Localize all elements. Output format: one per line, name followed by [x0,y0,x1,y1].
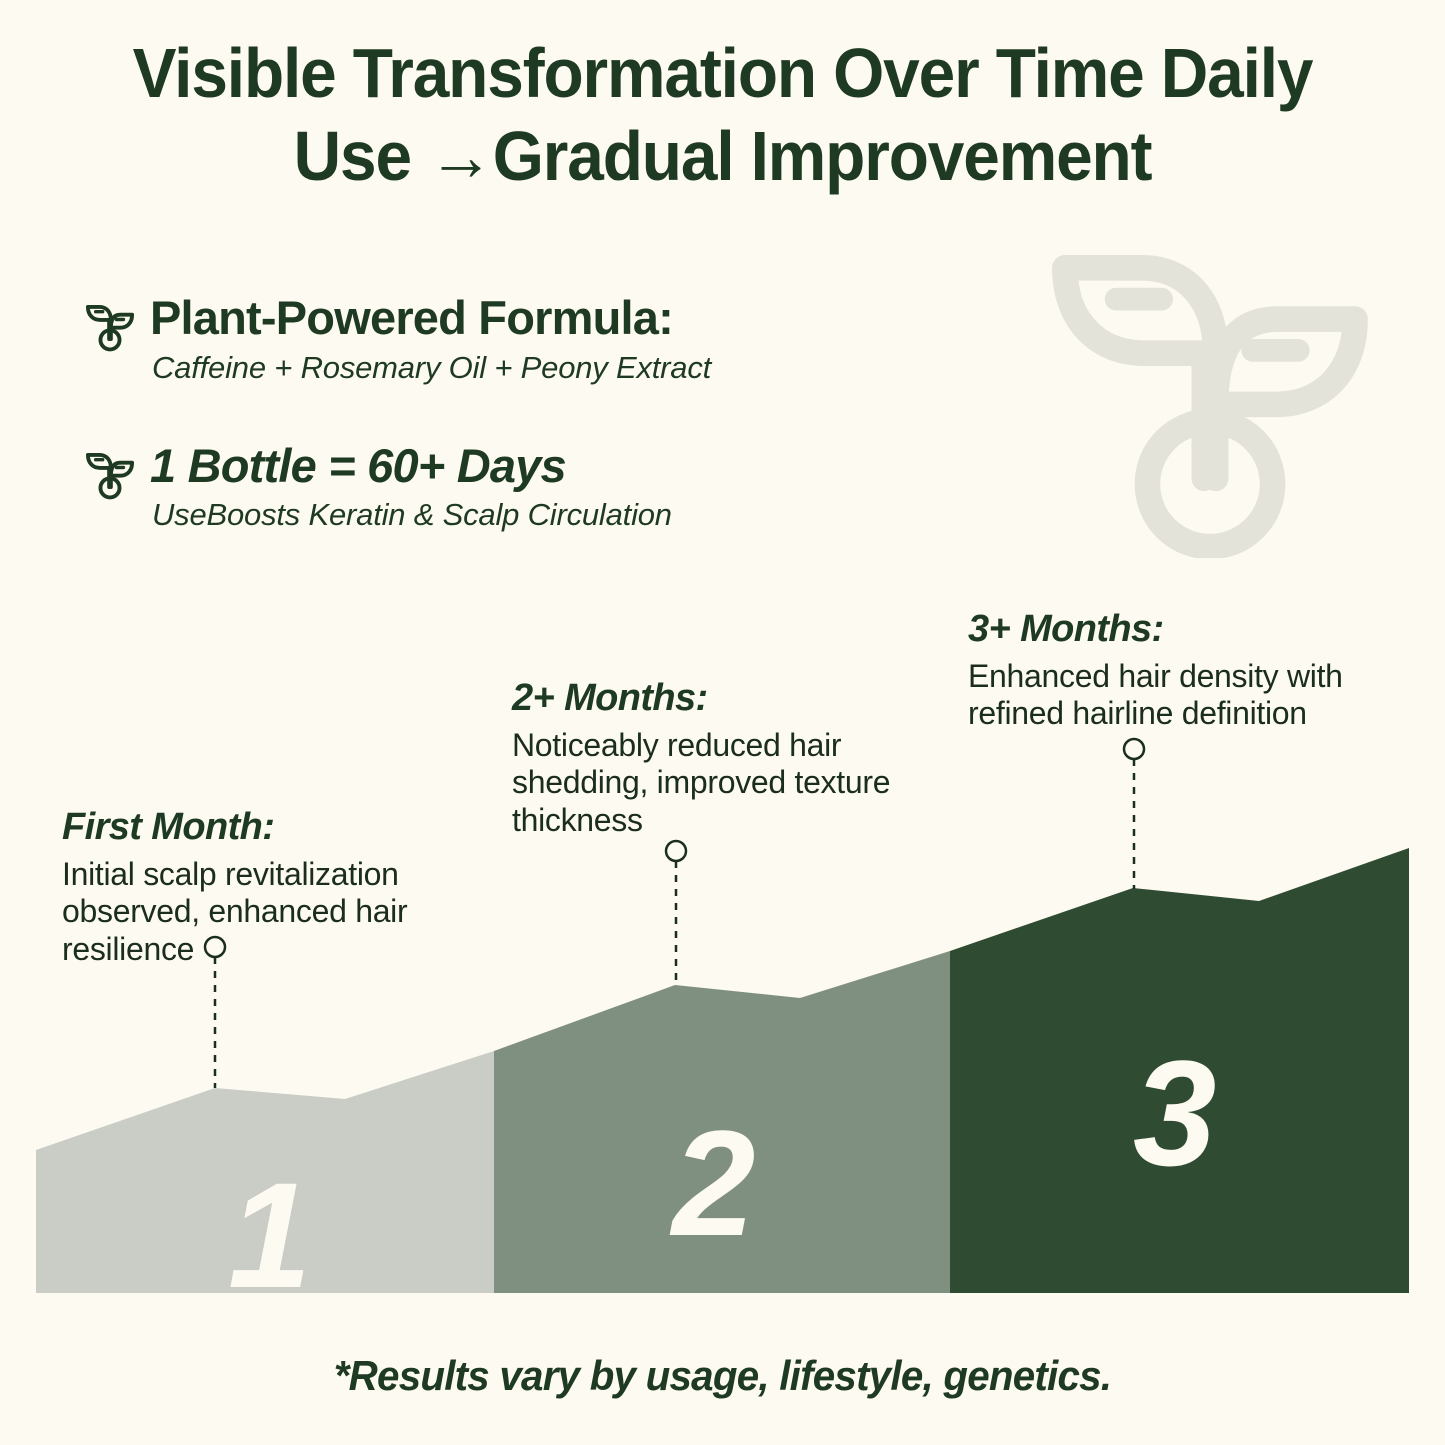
feature-heading: Plant-Powered Formula: [150,292,978,345]
feature-item-bottle-days: 1 Bottle = 60+ Days UseBoosts Keratin & … [78,440,978,534]
callout-title: 3+ Months: [968,607,1388,652]
callout-two-months: 2+ Months: Noticeably reduced hair shedd… [512,676,932,839]
callout-body: Initial scalp revitalization observed, e… [62,856,462,968]
callout-three-months: 3+ Months: Enhanced hair density with re… [968,607,1388,733]
step-numeral-1: 1 [228,1160,307,1310]
sprout-icon [84,446,136,502]
callout-body: Enhanced hair density with refined hairl… [968,658,1388,733]
callout-title: 2+ Months: [512,676,932,721]
feature-item-plant-powered: Plant-Powered Formula: Caffeine + Rosema… [78,292,978,386]
callout-leader-3 [1124,739,1144,889]
feature-list: Plant-Powered Formula: Caffeine + Rosema… [78,292,978,588]
callout-body: Noticeably reduced hair shedding, improv… [512,727,932,839]
callout-first-month: First Month: Initial scalp revitalizatio… [62,805,462,968]
callout-leader-2 [666,841,686,986]
title-line-1: Visible Transformation Over Time Daily [43,32,1401,115]
feature-subtext: UseBoosts Keratin & Scalp Circulation [152,496,978,533]
title-line-2: Use →Gradual Improvement [43,115,1401,198]
step-numeral-2: 2 [672,1108,751,1258]
page-title: Visible Transformation Over Time Daily U… [43,32,1401,199]
disclaimer-text: *Results vary by usage, lifestyle, genet… [29,1352,1416,1400]
feature-subtext: Caffeine + Rosemary Oil + Peony Extract [152,349,978,386]
feature-heading: 1 Bottle = 60+ Days [150,440,978,493]
infographic-root: Visible Transformation Over Time Daily U… [0,0,1445,1445]
sprout-icon [84,298,136,354]
callout-title: First Month: [62,805,462,850]
step-numeral-3: 3 [1133,1038,1212,1188]
watermark-sprout-icon [1035,228,1385,558]
